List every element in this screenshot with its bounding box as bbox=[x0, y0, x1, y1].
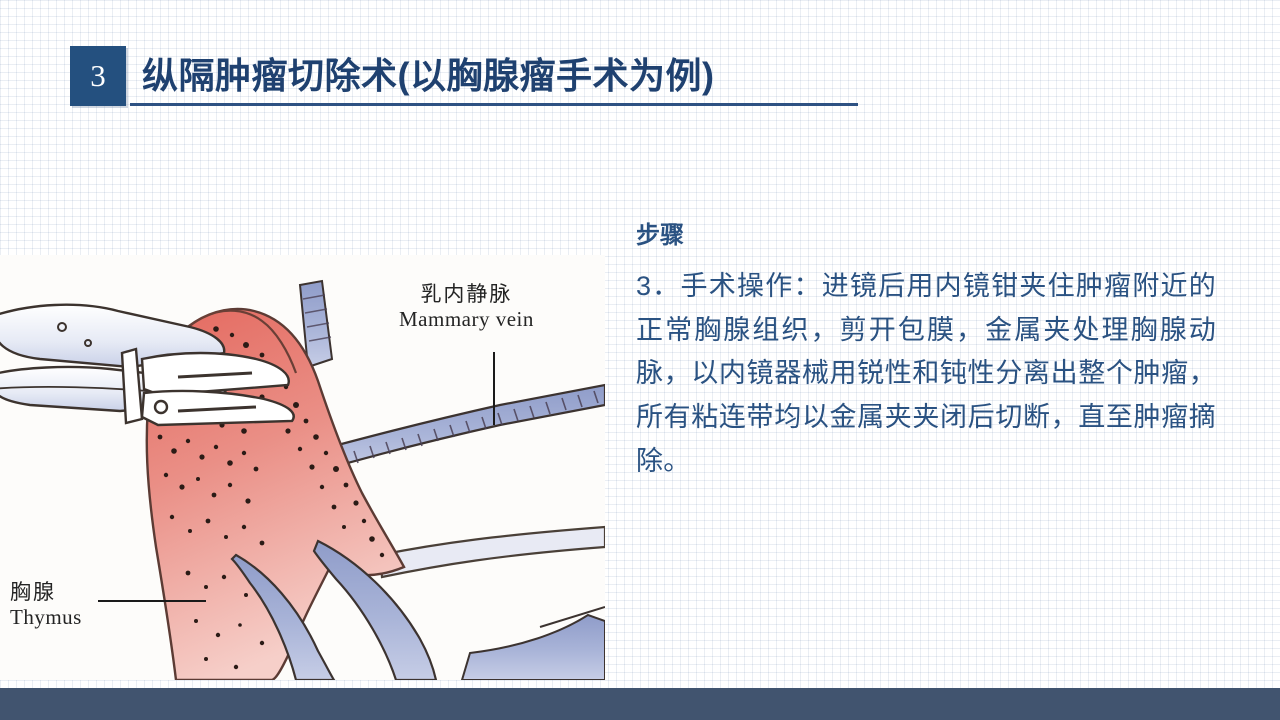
label-thymus-en: Thymus bbox=[10, 605, 82, 630]
section-number-badge: 3 bbox=[70, 46, 126, 106]
title-underline bbox=[130, 103, 858, 106]
steps-heading: 步骤 bbox=[636, 222, 1216, 251]
footer-bar bbox=[0, 688, 1280, 720]
steps-text-column: 步骤 3．手术操作：进镜后用内镜钳夹住肿瘤附近的正常胸腺组织，剪开包膜，金属夹处… bbox=[636, 222, 1216, 483]
label-mammary-vein-en: Mammary vein bbox=[399, 307, 534, 332]
slide-title-row: 3 纵隔肿瘤切除术(以胸腺瘤手术为例) bbox=[70, 46, 714, 106]
slide-root: 3 纵隔肿瘤切除术(以胸腺瘤手术为例) bbox=[0, 0, 1280, 720]
leader-line-mammary-vein bbox=[493, 352, 495, 425]
label-mammary-vein-cn: 乳内静脉 bbox=[399, 282, 534, 307]
page-title: 纵隔肿瘤切除术(以胸腺瘤手术为例) bbox=[142, 58, 714, 94]
label-mammary-vein: 乳内静脉 Mammary vein bbox=[399, 282, 534, 332]
steps-paragraph: 3．手术操作：进镜后用内镜钳夹住肿瘤附近的正常胸腺组织，剪开包膜，金属夹处理胸腺… bbox=[636, 265, 1216, 484]
label-thymus-cn: 胸腺 bbox=[10, 580, 82, 605]
label-thymus: 胸腺 Thymus bbox=[10, 580, 82, 630]
leader-line-thymus bbox=[98, 600, 206, 602]
